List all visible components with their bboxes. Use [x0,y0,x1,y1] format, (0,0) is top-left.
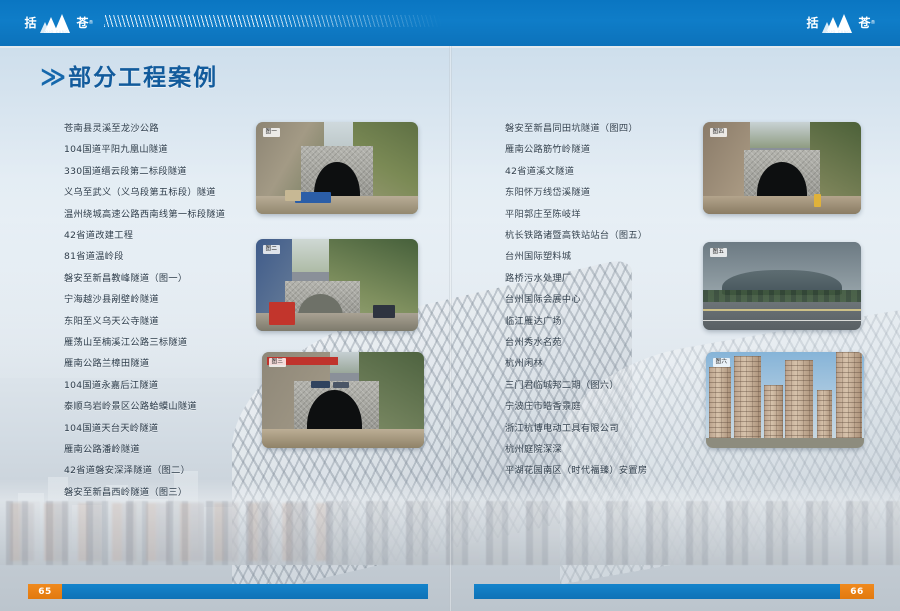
logo-char-left: 括 [24,17,36,29]
header-right: 括 KUO CANG 苍 ® [450,0,900,46]
photo-figure-4[interactable]: 图四 [703,122,861,214]
logo-right: 括 KUO CANG 苍 ® [798,9,884,37]
brochure-spread: 括 KUO CANG 苍 ® 括 KUO [0,0,900,611]
list-item: 台州秀水名苑 [505,332,705,353]
list-item: 临江雁达广场 [505,311,705,332]
photo-figure-3[interactable]: 图三 [262,352,424,448]
figure-label-3: 图三 [269,358,286,367]
list-item: 雁南公路筋竹岭隧道 [505,139,705,160]
list-item: 杭州闲林 [505,353,705,374]
chevron-right-icon: ≫ [40,64,63,89]
list-item: 330国道缙云段第二标段隧道 [64,161,254,182]
photo-figure-5[interactable]: 图五 [703,242,861,330]
list-item: 磐安至新昌教峰隧道（图一） [64,268,254,289]
list-item: 泰顺乌岩岭景区公路蛤蟆山隧道 [64,396,254,417]
list-item: 磐安至新昌同田坑隧道（图四） [505,118,705,139]
list-item: 温州绕城高速公路西南线第一标段隧道 [64,204,254,225]
footer-bar-right [474,584,840,599]
logo-left: 括 KUO CANG 苍 ® [16,9,102,37]
page-gutter [449,46,452,611]
mountain-icon: KUO CANG [40,13,74,33]
logo-char-right-right-page: 苍 [859,17,871,29]
footer-bar-left [62,584,428,599]
logo-pinyin: KUO CANG [40,30,74,34]
figure-label-4: 图四 [710,128,727,137]
section-title: ≫ 部分工程案例 [40,64,218,90]
logo-pinyin-right: KUO CANG [822,30,856,34]
footer-right: 66 [474,584,874,599]
list-item: 平湖花园南区（时代福臻）安置房 [505,460,705,481]
photo-scene-tunnel-3 [262,352,424,448]
figure-label-5: 图五 [710,248,727,257]
page-title: 部分工程案例 [68,67,218,90]
list-item: 雁荡山至楠溪江公路三标隧道 [64,332,254,353]
photo-scene-tunnel-2 [256,239,418,331]
page-number-left: 65 [28,584,62,599]
header-left: 括 KUO CANG 苍 ® [0,0,450,46]
list-item: 磐安至新昌西岭隧道（图三） [64,482,254,503]
project-list-right: 磐安至新昌同田坑隧道（图四） 雁南公路筋竹岭隧道 42省道溪文隧道 东阳怀万线岱… [505,118,705,482]
list-item: 三门君临城邦二期（图六） [505,375,705,396]
list-item: 81省道温岭段 [64,246,254,267]
list-item: 义乌至武义（义乌段第五标段）隧道 [64,182,254,203]
list-item: 台州国际会展中心 [505,289,705,310]
figure-label-6: 图六 [713,358,730,367]
list-item: 雁南公路潘岭隧道 [64,439,254,460]
project-list-left: 苍南县灵溪至龙沙公路 104国道平阳九凰山隧道 330国道缙云段第二标段隧道 义… [64,118,254,503]
list-item: 东阳怀万线岱溪隧道 [505,182,705,203]
list-item: 雁南公路兰樟田隧道 [64,353,254,374]
list-item: 宁海越沙县剐壁岭隧道 [64,289,254,310]
mountain-icon-right: KUO CANG [822,13,856,33]
list-item: 台州国际塑料城 [505,246,705,267]
list-item: 42省道改建工程 [64,225,254,246]
list-item: 苍南县灵溪至龙沙公路 [64,118,254,139]
header-stripe-decoration [104,15,442,27]
list-item: 东阳至义乌天公寺隧道 [64,311,254,332]
registered-mark-icon-right: ® [871,20,876,26]
list-item: 杭长铁路诸暨高铁站站台（图五） [505,225,705,246]
list-item: 104国道天台天岭隧道 [64,417,254,438]
registered-mark-icon: ® [89,20,94,26]
list-item: 平阳郭庄至陈岐垟 [505,204,705,225]
list-item: 104国道平阳九凰山隧道 [64,139,254,160]
footer-left: 65 [28,584,428,599]
page-number-right: 66 [840,584,874,599]
list-item: 104国道永嘉后江隧道 [64,375,254,396]
photo-figure-1[interactable]: 图一 [256,122,418,214]
photo-scene-tunnel-1 [256,122,418,214]
list-item: 杭州庭院深深 [505,439,705,460]
list-item: 浙江杭博电动工具有限公司 [505,417,705,438]
figure-label-1: 图一 [263,128,280,137]
logo-char-left-right-page: 括 [806,17,818,29]
photo-figure-6[interactable]: 图六 [706,352,864,448]
list-item: 42省道磐安深泽隧道（图二） [64,460,254,481]
list-item: 42省道溪文隧道 [505,161,705,182]
figure-label-2: 图二 [263,245,280,254]
list-item: 路桥污水处理厂 [505,268,705,289]
photo-figure-2[interactable]: 图二 [256,239,418,331]
list-item: 宁波庄市皓香景庭 [505,396,705,417]
logo-char-right: 苍 [77,17,89,29]
